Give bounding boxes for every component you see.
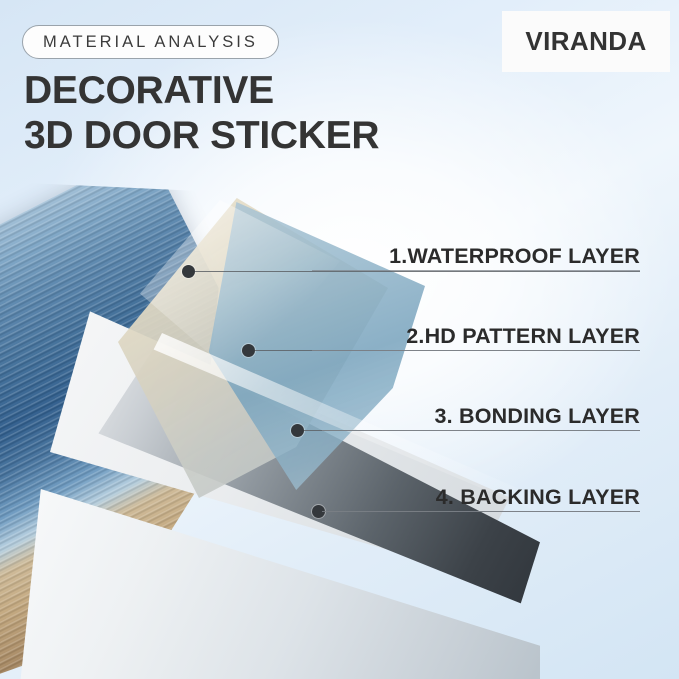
brand-name: VIRANDA xyxy=(525,26,646,57)
callout-label-2: 2.HD PATTERN LAYER xyxy=(406,324,640,349)
callout-rule-3 xyxy=(322,430,640,431)
callout-dot-3 xyxy=(291,424,304,437)
callout-label-1: 1.WATERPROOF LAYER xyxy=(389,244,640,269)
badge-label: MATERIAL ANALYSIS xyxy=(43,33,258,52)
callout-leader-1 xyxy=(195,271,640,272)
title-line-2: 3D DOOR STICKER xyxy=(24,113,379,158)
callout-dot-1 xyxy=(182,265,195,278)
title-line-1: DECORATIVE xyxy=(24,68,379,113)
poster-canvas: MATERIAL ANALYSIS DECORATIVE 3D DOOR STI… xyxy=(0,0,679,679)
material-analysis-badge: MATERIAL ANALYSIS xyxy=(22,25,279,59)
page-title: DECORATIVE 3D DOOR STICKER xyxy=(24,68,379,158)
brand-logo-box: VIRANDA xyxy=(502,11,670,72)
callout-rule-4 xyxy=(322,511,640,512)
callout-rule-2 xyxy=(312,350,640,351)
callout-dot-2 xyxy=(242,344,255,357)
callout-rule-1 xyxy=(312,270,640,271)
callout-label-3: 3. BONDING LAYER xyxy=(435,404,641,429)
callout-label-4: 4. BACKING LAYER xyxy=(436,485,640,510)
